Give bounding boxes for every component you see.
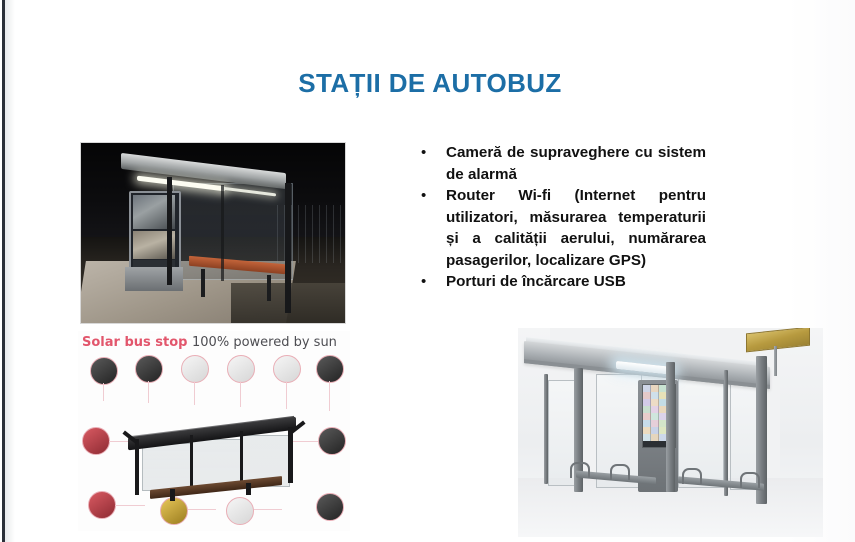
callout-icon-asphalt [316, 493, 344, 521]
connector-line [329, 381, 330, 411]
list-item: • Cameră de supraveghere cu sistem de al… [418, 142, 706, 185]
shelter-glass-panel [142, 443, 192, 491]
callout-icon-light [316, 355, 344, 383]
bench-armrest [610, 464, 630, 480]
bench-leg [201, 269, 205, 297]
infographic-caption-rest: 100% powered by sun [192, 335, 337, 350]
shelter-post-left [167, 177, 172, 285]
bench-leg [170, 489, 175, 501]
bench-armrest [740, 472, 760, 488]
infographic-caption: Solar bus stop 100% powered by sun [82, 335, 337, 350]
bullet-text-camera: Cameră de supraveghere cu sistem de alar… [446, 142, 706, 185]
bench-armrest [570, 462, 590, 478]
callout-icon-stone [226, 497, 254, 525]
presentation-slide: STAȚII DE AUTOBUZ • Cameră de supraveghe… [0, 0, 855, 542]
bullet-text-usb: Porturi de încărcare USB [446, 271, 706, 293]
callout-icon-controller [273, 355, 301, 383]
display-base-cabinet [125, 267, 183, 291]
bench-leg [267, 275, 271, 301]
shelter-post [666, 362, 675, 492]
shelter-frame-edge [724, 370, 728, 496]
bullet-marker-icon: • [418, 142, 446, 164]
callout-icon-solar-panel [90, 357, 118, 385]
bus-shelter-3d-render [518, 328, 823, 537]
callout-icon-battery [227, 355, 255, 383]
connector-line [194, 381, 195, 405]
feature-bullet-list: • Cameră de supraveghere cu sistem de al… [418, 142, 706, 293]
shelter-post-right [285, 183, 291, 313]
shelter-frame-post [190, 435, 193, 491]
shelter-frame-edge [544, 374, 548, 484]
bus-shelter-night-photo [81, 143, 345, 323]
callout-icon-roof [135, 355, 163, 383]
bullet-marker-icon: • [418, 271, 446, 293]
connector-line [240, 381, 241, 407]
list-item: • Router Wi-fi (Internet pentru utilizat… [418, 185, 706, 271]
callout-icon-emergency [88, 491, 116, 519]
callout-icon-wifi [318, 427, 346, 455]
bullet-text-router: Router Wi-fi (Internet pentru utilizator… [446, 185, 706, 271]
shelter-frame-post [288, 427, 293, 483]
bench-leg [246, 483, 251, 495]
infographic-caption-highlight: Solar bus stop [82, 335, 187, 350]
bus-stop-sign-panel [746, 328, 810, 352]
shelter-post-mid [221, 185, 224, 281]
callout-icon-foundation [160, 497, 188, 525]
shelter-frame-post [240, 431, 243, 487]
slide-left-border-shadow [5, 0, 15, 542]
solar-bus-stop-infographic: Solar bus stop 100% powered by sun [78, 331, 350, 531]
connector-line [103, 383, 104, 401]
connector-line [254, 509, 282, 510]
connector-line [286, 381, 287, 409]
callout-icon-glass [181, 355, 209, 383]
bullet-marker-icon: • [418, 185, 446, 207]
sign-pole [774, 346, 777, 376]
shelter-frame-post [135, 439, 139, 495]
callout-icon-sensor [82, 427, 110, 455]
page-title: STAȚII DE AUTOBUZ [265, 68, 595, 99]
connector-line [292, 441, 318, 442]
connector-line [188, 509, 216, 510]
connector-line [115, 505, 145, 506]
list-item: • Porturi de încărcare USB [418, 271, 706, 293]
information-display-panel [129, 191, 181, 271]
bench-armrest [682, 468, 702, 484]
connector-line [148, 381, 149, 403]
